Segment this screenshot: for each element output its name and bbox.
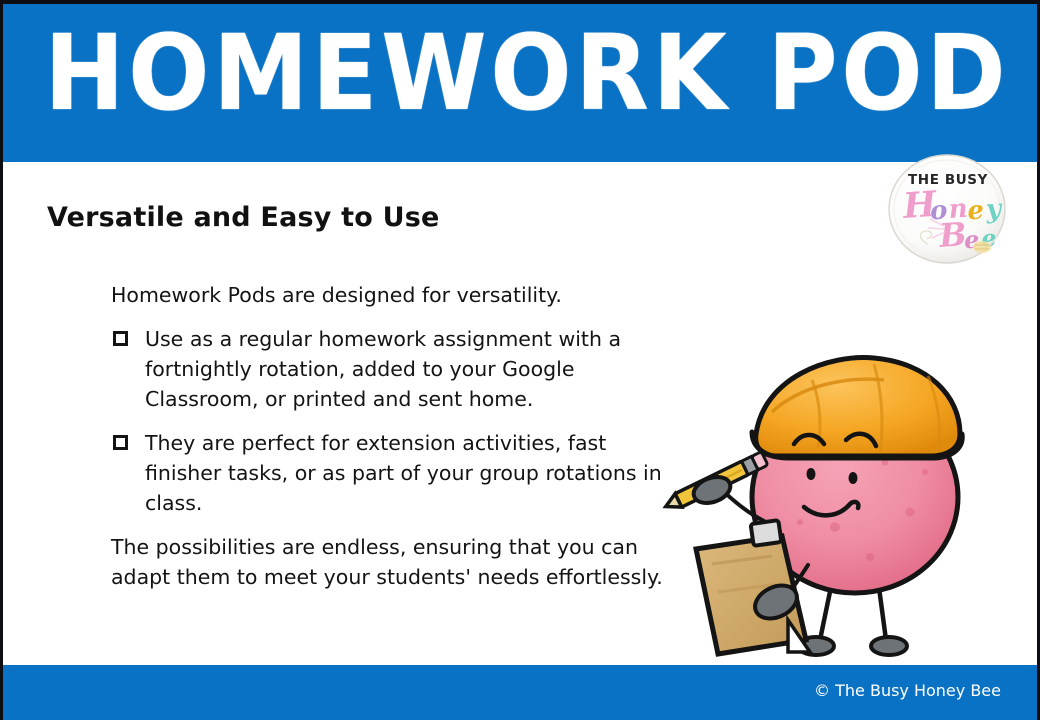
checkbox-icon	[113, 331, 128, 346]
list-item: Use as a regular homework assignment wit…	[111, 324, 671, 414]
closing-paragraph: The possibilities are endless, ensuring …	[111, 532, 671, 592]
list-item: They are perfect for extension activitie…	[111, 428, 671, 518]
section-heading: Versatile and Easy to Use	[47, 202, 440, 234]
logo-letter: e	[966, 195, 985, 226]
page-title: HOMEWORK POD	[44, 14, 995, 132]
footer-banner: © The Busy Honey Bee	[3, 665, 1037, 720]
brand-logo: THE BUSY Honey Bee	[884, 152, 1011, 264]
eye-left	[807, 468, 816, 480]
copyright-credit: © The Busy Honey Bee	[814, 681, 1001, 701]
header-banner: HOMEWORK POD	[3, 4, 1037, 162]
character-svg	[660, 352, 970, 667]
character-hand-left	[690, 472, 734, 508]
logo-bee-icon	[973, 241, 991, 253]
list-item-label: They are perfect for extension activitie…	[145, 428, 671, 518]
body-text-block: Homework Pods are designed for versatili…	[111, 280, 671, 606]
slide-canvas: HOMEWORK POD Versatile and Easy to Use H…	[0, 0, 1040, 720]
construction-worker-character-icon	[660, 352, 970, 667]
list-item-label: Use as a regular homework assignment wit…	[145, 324, 671, 414]
intro-paragraph: Homework Pods are designed for versatili…	[111, 280, 671, 310]
brand-logo-svg: THE BUSY Honey Bee	[884, 152, 1011, 264]
character-shoe-right	[871, 637, 907, 655]
checkbox-icon	[113, 435, 128, 450]
clipboard-clip-icon	[751, 520, 782, 546]
hard-hat-icon	[752, 358, 962, 458]
eye-right	[849, 472, 858, 484]
